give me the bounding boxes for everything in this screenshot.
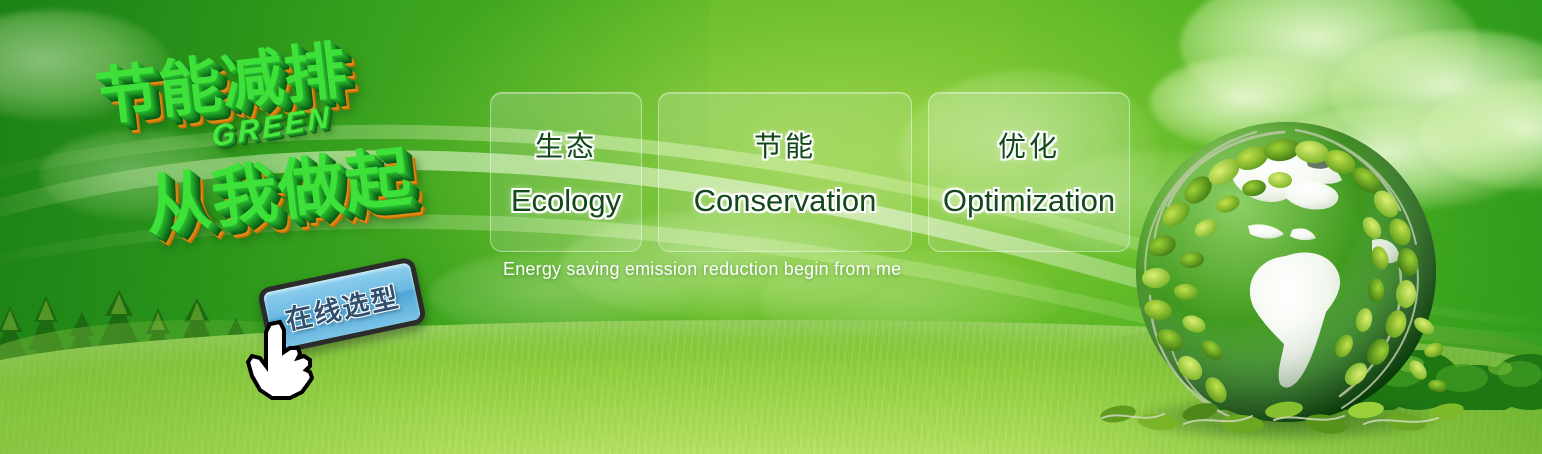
feature-card-cn-label: 节能 bbox=[754, 125, 816, 165]
feature-card-optimization[interactable]: 优化 Optimization bbox=[928, 92, 1130, 252]
feature-card-conservation[interactable]: 节能 Conservation bbox=[658, 92, 912, 252]
green-leaf-globe-icon bbox=[1128, 118, 1446, 436]
globe-continents bbox=[1136, 122, 1436, 422]
feature-card-ecology[interactable]: 生态 Ecology bbox=[490, 92, 642, 252]
feature-card-list: 生态 Ecology 节能 Conservation 优化 Optimizati… bbox=[490, 92, 1130, 252]
banner-tagline: Energy saving emission reduction begin f… bbox=[503, 259, 901, 280]
eco-promo-banner: 节能减排 GREEN 从我做起 在线选型 生态 Ecology 节能 Conse… bbox=[0, 0, 1542, 454]
headline-3d: 节能减排 GREEN 从我做起 bbox=[84, 16, 507, 290]
feature-card-cn-label: 优化 bbox=[998, 125, 1060, 165]
globe-sphere bbox=[1136, 122, 1436, 422]
feature-card-en-label: Ecology bbox=[511, 183, 621, 219]
feature-card-cn-label: 生态 bbox=[535, 125, 597, 165]
headline-line-bottom: 从我做起 bbox=[141, 143, 415, 239]
feature-card-en-label: Conservation bbox=[694, 183, 877, 219]
hand-pointer-icon bbox=[240, 318, 318, 400]
grass-shade-left bbox=[0, 320, 444, 454]
feature-card-en-label: Optimization bbox=[943, 183, 1115, 219]
